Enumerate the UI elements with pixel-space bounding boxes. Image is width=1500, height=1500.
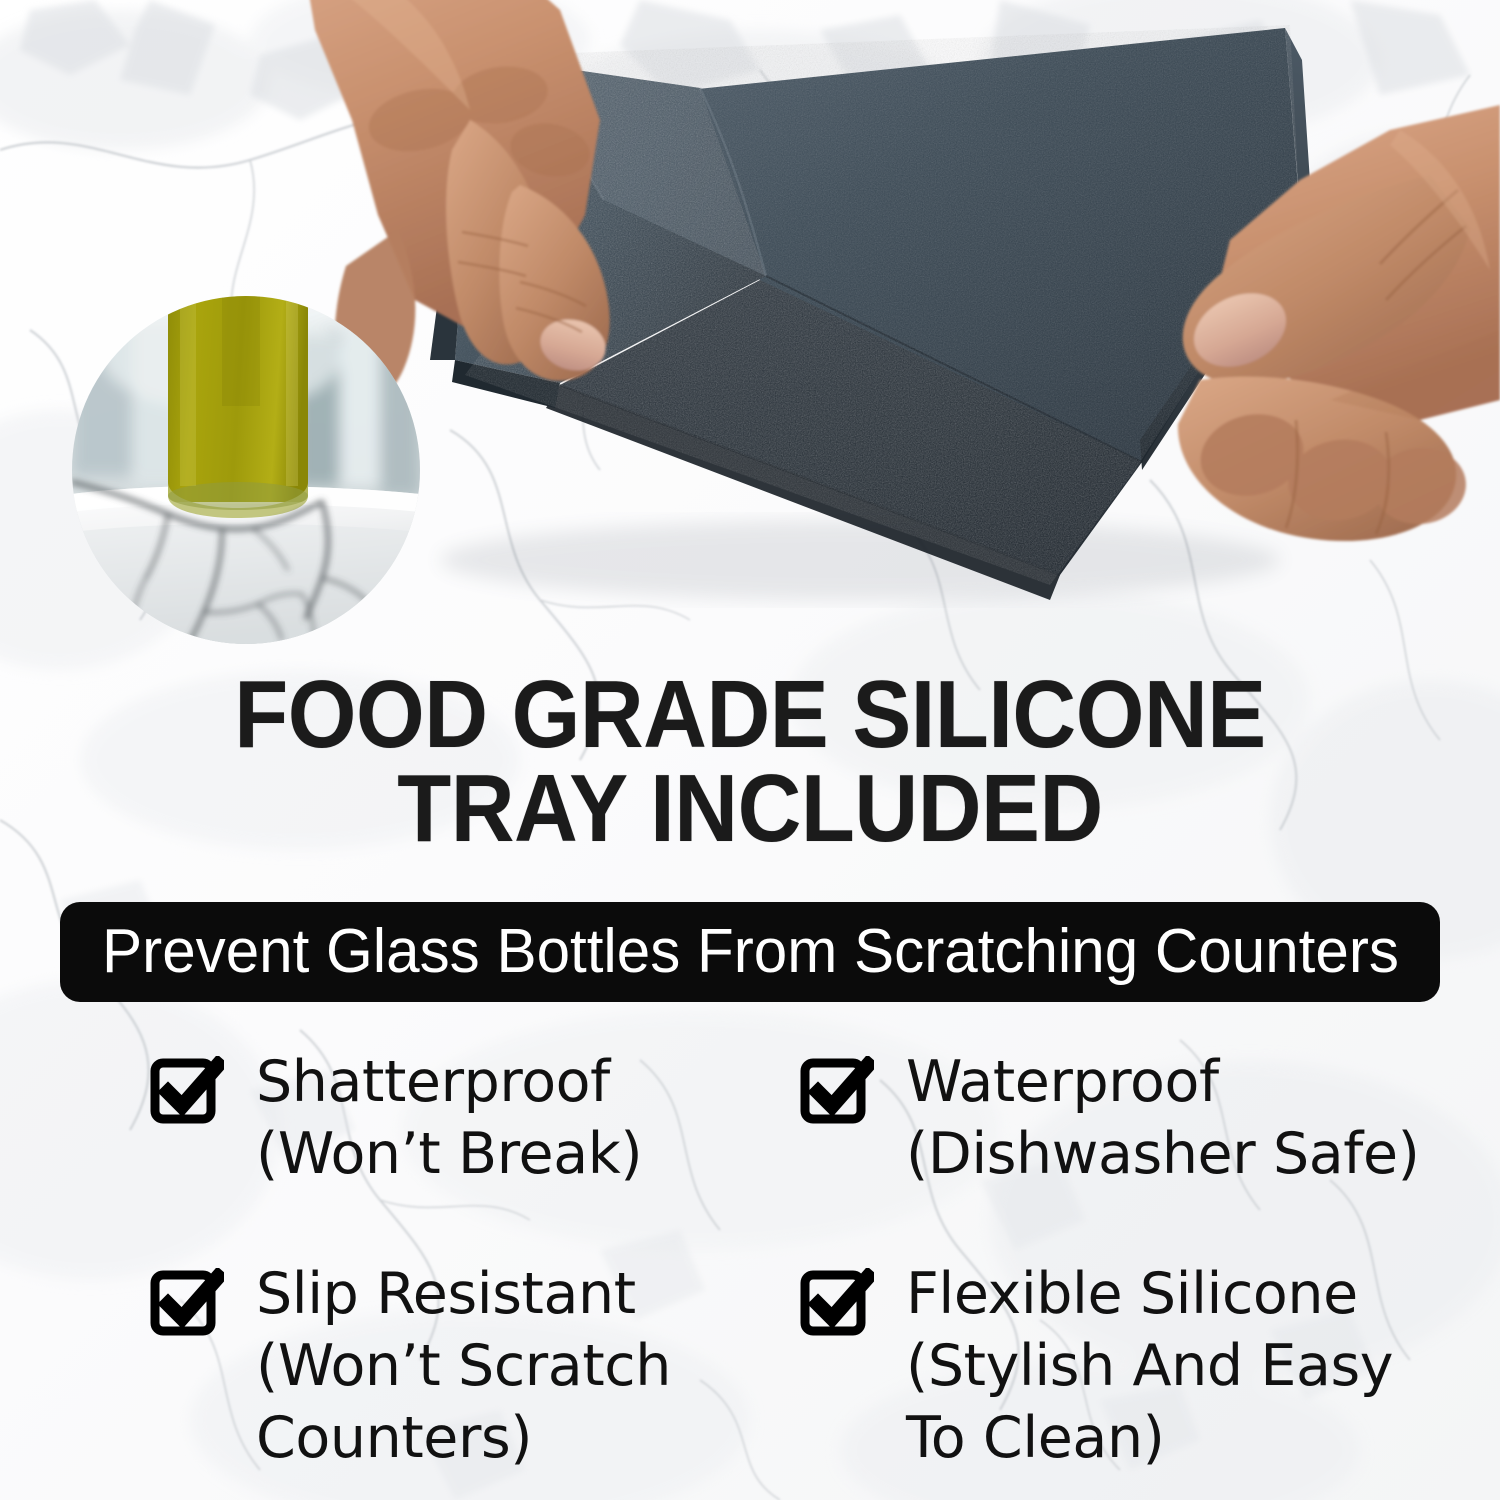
benefit-text: Flexible Silicone (Stylish And Easy To C…	[906, 1258, 1393, 1474]
benefit-line: To Clean)	[906, 1402, 1393, 1474]
checkbox-checked-icon	[800, 1268, 874, 1342]
benefit-line: (Dishwasher Safe)	[906, 1118, 1419, 1190]
checkbox-checked-icon	[800, 1056, 874, 1130]
checkbox-checked-icon	[150, 1268, 224, 1342]
benefit-line: (Won’t Break)	[256, 1118, 642, 1190]
benefit-line: Counters)	[256, 1402, 671, 1474]
benefit-item-waterproof: Waterproof (Dishwasher Safe)	[800, 1046, 1450, 1258]
tagline-text: Prevent Glass Bottles From Scratching Co…	[102, 921, 1399, 983]
benefit-item-shatterproof: Shatterproof (Won’t Break)	[150, 1046, 800, 1258]
benefit-text: Waterproof (Dishwasher Safe)	[906, 1046, 1419, 1190]
olive-oil-bottle	[168, 296, 308, 518]
cracked-counter-inset-photo	[72, 296, 420, 644]
headline-line-2: TRAY INCLUDED	[60, 762, 1440, 856]
benefit-item-slip-resistant: Slip Resistant (Won’t Scratch Counters)	[150, 1258, 800, 1500]
inset-illustration	[72, 296, 420, 644]
tagline-banner: Prevent Glass Bottles From Scratching Co…	[60, 902, 1440, 1002]
benefits-list: Shatterproof (Won’t Break) Waterproof (D…	[0, 1046, 1500, 1500]
benefit-line: Waterproof	[906, 1046, 1419, 1118]
benefit-line: Slip Resistant	[256, 1258, 671, 1330]
benefit-line: Shatterproof	[256, 1046, 642, 1118]
benefit-line: (Won’t Scratch	[256, 1330, 671, 1402]
headline-line-1: FOOD GRADE SILICONE	[60, 668, 1440, 762]
checkbox-checked-icon	[150, 1056, 224, 1130]
page-headline: FOOD GRADE SILICONE TRAY INCLUDED	[60, 668, 1440, 856]
benefit-text: Slip Resistant (Won’t Scratch Counters)	[256, 1258, 671, 1474]
benefit-line: Flexible Silicone	[906, 1258, 1393, 1330]
benefit-text: Shatterproof (Won’t Break)	[256, 1046, 642, 1190]
benefit-line: (Stylish And Easy	[906, 1330, 1393, 1402]
benefit-item-flexible-silicone: Flexible Silicone (Stylish And Easy To C…	[800, 1258, 1450, 1500]
